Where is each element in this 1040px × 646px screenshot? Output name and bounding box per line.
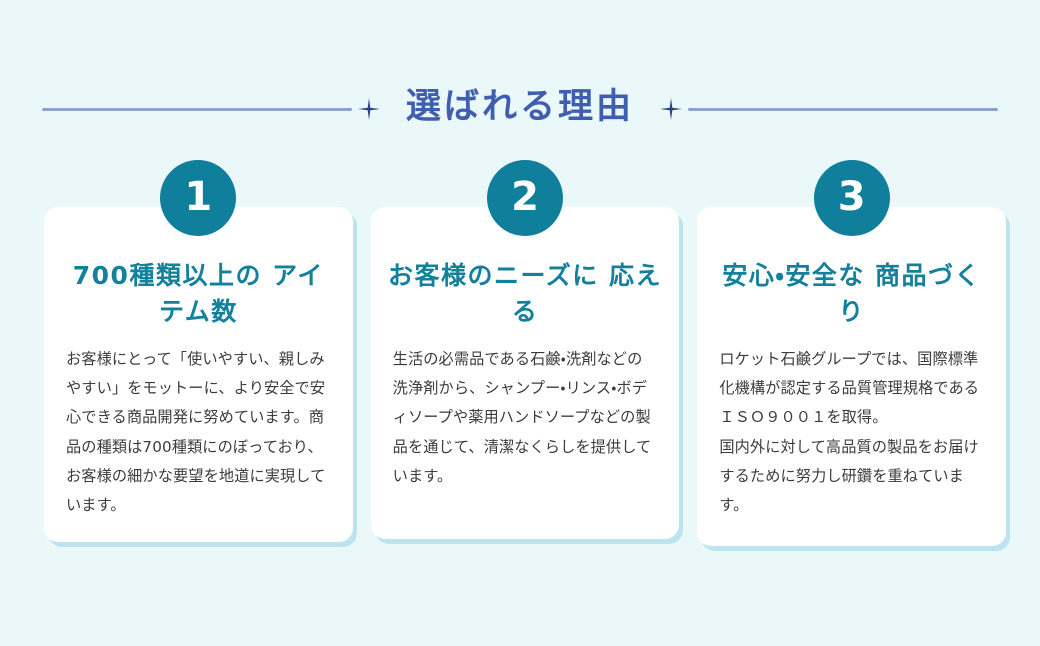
card-title: 700種類以上の アイテム数 [60, 258, 337, 329]
reason-card: 3 安心・安全な 商品づくり ロケット石鹸グループでは、国際標準化機構が認定する… [697, 207, 1006, 546]
card-body-text: 生活の必需品である石鹸・洗剤などの洗浄剤から、シャンプー・リンス・ボディソープや… [393, 345, 658, 491]
card-title: 安心・安全な 商品づくり [713, 258, 990, 329]
reason-card-list: 1 700種類以上の アイテム数 お客様にとって「使いやすい、親しみやすい」をモ… [44, 207, 1006, 546]
section-heading: 選ばれる理由 [0, 78, 1040, 140]
card-number-badge: 2 [487, 160, 563, 236]
card-number-badge: 3 [814, 160, 890, 236]
reason-card: 1 700種類以上の アイテム数 お客様にとって「使いやすい、親しみやすい」をモ… [44, 207, 353, 542]
reason-card: 2 お客様のニーズに 応える 生活の必需品である石鹸・洗剤などの洗浄剤から、シャ… [371, 207, 680, 539]
card-body-text: ロケット石鹸グループでは、国際標準化機構が認定する品質管理規格であるＩＳＯ９００… [719, 345, 984, 520]
card-number-badge: 1 [160, 160, 236, 236]
sparkle-icon [358, 98, 380, 120]
sparkle-icon [660, 98, 682, 120]
card-body-text: お客様にとって「使いやすい、親しみやすい」をモットーに、より安全で安心できる商品… [66, 345, 331, 520]
page-title: 選ばれる理由 [406, 90, 634, 128]
heading-rule-left [42, 108, 352, 111]
card-title: お客様のニーズに 応える [387, 258, 664, 329]
heading-rule-right [688, 108, 998, 111]
